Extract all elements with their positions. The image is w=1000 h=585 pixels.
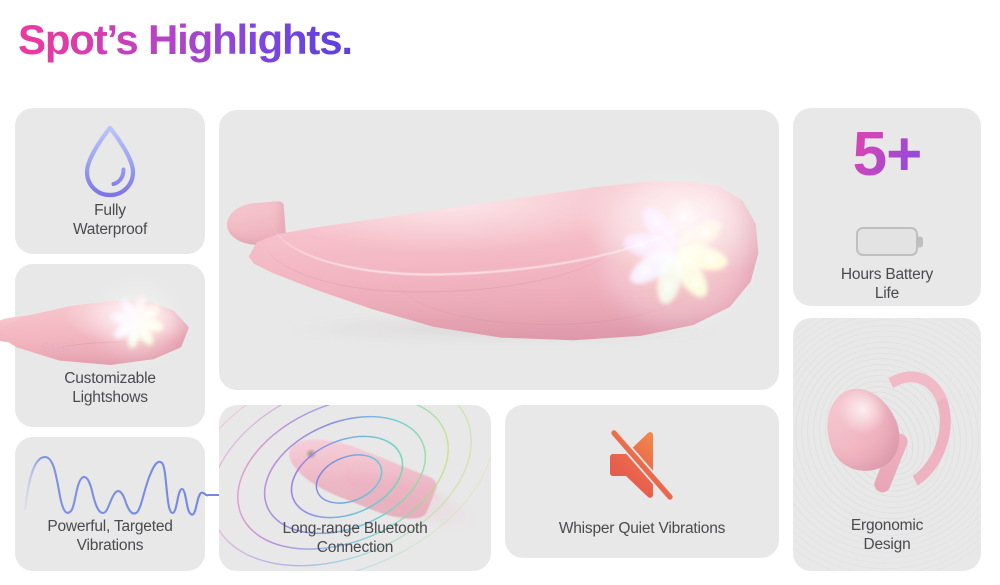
card-powerful-targeted-vibrations[interactable]: Powerful, Targeted Vibrations <box>15 437 205 571</box>
card-battery-life[interactable]: 5+ Hours Battery Life <box>793 108 981 306</box>
card-customizable-lightshows[interactable]: spot Customizable Lightshows <box>15 264 205 427</box>
card-label: Ergonomic Design <box>793 516 981 555</box>
watermark: spot <box>40 337 77 357</box>
battery-hours-value: 5+ <box>793 124 981 186</box>
water-droplet-icon <box>15 122 205 202</box>
battery-icon <box>856 227 918 256</box>
highlights-page: Spot’s Highlights. Fully Waterproof <box>0 0 1000 585</box>
page-title: Spot’s Highlights. <box>18 16 352 64</box>
product-hero-image <box>219 110 779 390</box>
card-ergonomic-design[interactable]: Ergonomic Design <box>793 318 981 571</box>
card-label: Fully Waterproof <box>15 201 205 240</box>
card-long-range-bluetooth[interactable]: Long-range Bluetooth Connection <box>219 405 491 571</box>
mute-speaker-icon <box>505 427 779 503</box>
card-label: Whisper Quiet Vibrations <box>505 519 779 538</box>
card-whisper-quiet-vibrations[interactable]: Whisper Quiet Vibrations <box>505 405 779 558</box>
product-lightshow-image: spot <box>0 272 193 384</box>
card-hero-product[interactable] <box>219 110 779 390</box>
card-label: Customizable Lightshows <box>15 369 205 408</box>
led-core <box>131 316 143 328</box>
card-label: Powerful, Targeted Vibrations <box>15 517 205 556</box>
card-label: Long-range Bluetooth Connection <box>219 519 491 558</box>
led-core <box>669 246 681 258</box>
product-silhouette <box>827 366 953 496</box>
card-fully-waterproof[interactable]: Fully Waterproof <box>15 108 205 254</box>
card-label: Hours Battery Life <box>793 265 981 304</box>
